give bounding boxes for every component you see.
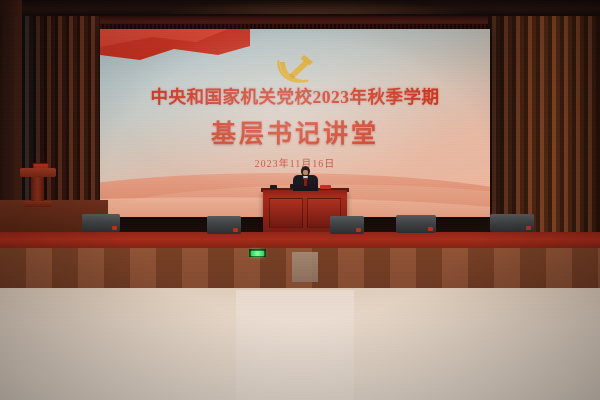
speaker-tie xyxy=(304,178,307,186)
podium-red-folder xyxy=(320,185,331,189)
stage-monitor xyxy=(82,214,120,232)
podium-item-dark xyxy=(270,185,277,189)
lectern-column xyxy=(31,177,44,203)
stage-monitor xyxy=(330,216,364,234)
emergency-exit-sign xyxy=(249,249,266,257)
podium-panel-left xyxy=(269,198,303,228)
stage-monitor xyxy=(207,216,241,234)
ceiling-light-sheen xyxy=(150,0,480,14)
ceiling xyxy=(0,0,600,17)
stage-monitor xyxy=(490,214,534,232)
auditorium-photo: 中央和国家机关党校2023年秋季学期 基层书记讲堂 2023年11月16日 xyxy=(0,0,600,400)
curtain-right xyxy=(488,16,600,246)
curtain-left-inner-panel xyxy=(0,0,22,214)
exit-sign-glow xyxy=(251,251,264,256)
stage-monitor xyxy=(396,215,436,233)
lectern-top xyxy=(20,168,56,177)
stage-front-access-panel xyxy=(292,252,318,282)
lectern-base xyxy=(24,201,52,207)
speaker-face xyxy=(303,170,308,175)
center-aisle xyxy=(236,290,354,400)
